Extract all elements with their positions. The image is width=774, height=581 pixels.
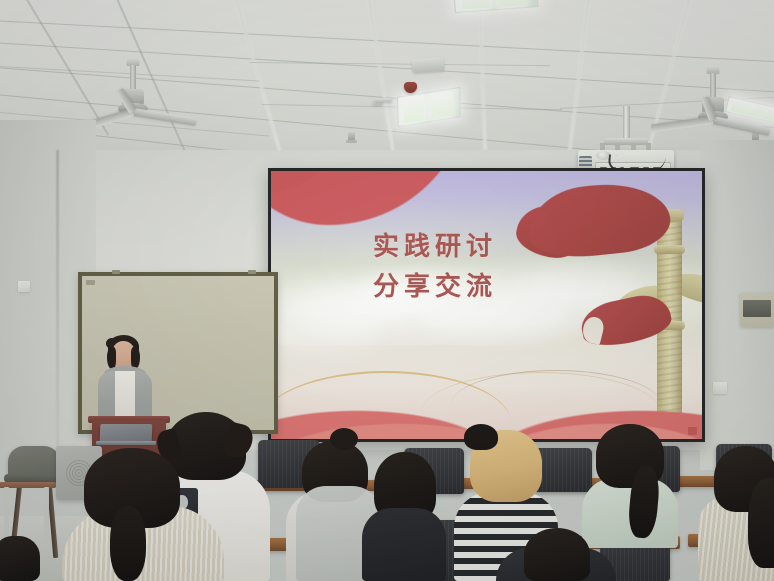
presenter-hair-side xyxy=(107,347,116,369)
panel-display xyxy=(743,300,770,317)
audience-chair[interactable] xyxy=(534,448,592,492)
audience-hair-clip xyxy=(464,424,498,450)
ceiling-fan-right xyxy=(698,66,728,126)
audience-ponytail xyxy=(110,506,146,581)
air-diffuser xyxy=(412,57,445,73)
slide-title: 实践研讨 分享交流 xyxy=(335,227,535,308)
fan-downrod xyxy=(130,65,136,91)
projection-screen[interactable]: 实践研讨 分享交流 xyxy=(271,171,702,439)
audience-hair xyxy=(748,478,774,568)
column-ring xyxy=(654,245,685,254)
slide-title-line-1: 实践研讨 xyxy=(335,227,535,267)
light-panel-mid xyxy=(397,87,461,127)
wall-corner-edge xyxy=(56,150,59,460)
fire-alarm-bell xyxy=(404,82,417,93)
slide-title-line-2: 分享交流 xyxy=(335,267,535,307)
classroom-photo: 实践研讨 分享交流 xyxy=(0,0,774,581)
audience-hair xyxy=(0,536,40,581)
audience-hair-bun xyxy=(330,428,358,450)
laptop-screen[interactable] xyxy=(100,424,153,442)
side-table-leg xyxy=(44,487,49,551)
fan-downrod xyxy=(710,73,716,99)
audience-torso xyxy=(362,508,446,581)
projector-pole xyxy=(623,106,630,142)
light-panel-top xyxy=(453,0,538,13)
slide-corner-mark xyxy=(688,427,697,435)
light-switch-left[interactable] xyxy=(18,281,30,292)
red-flag xyxy=(525,178,674,262)
board-clip xyxy=(112,270,120,274)
light-switch-right[interactable] xyxy=(713,382,727,394)
ceiling-fan-left xyxy=(118,58,148,118)
audience-hair xyxy=(524,528,590,581)
room: 实践研讨 分享交流 xyxy=(0,0,774,581)
projection-screen-frame: 实践研讨 分享交流 xyxy=(268,168,705,442)
board-clip xyxy=(248,270,256,274)
slide-cloud xyxy=(271,317,381,353)
laptop-base xyxy=(96,441,156,445)
sprinkler-head-left xyxy=(348,132,355,141)
notice-board-tag xyxy=(86,280,95,285)
ceiling-anchor xyxy=(374,98,392,102)
wall-control-panel[interactable] xyxy=(740,293,774,327)
